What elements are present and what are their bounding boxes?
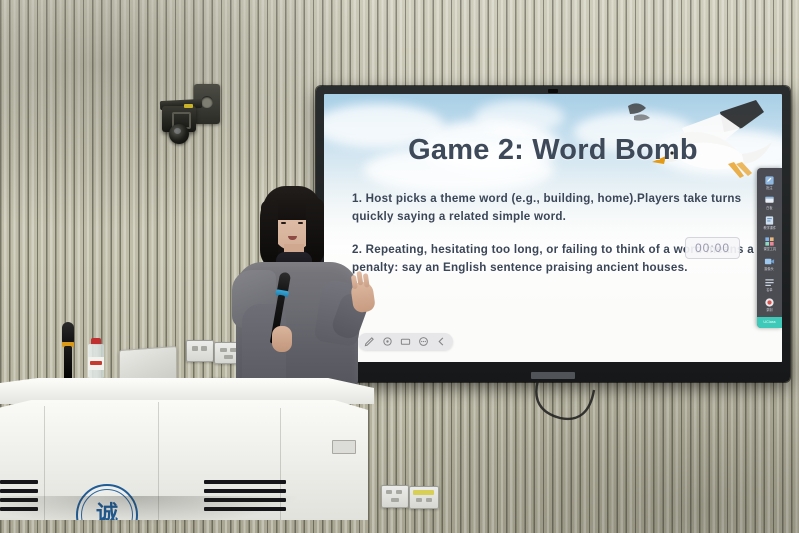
whiteboard-icon[interactable]: [764, 195, 775, 206]
podium-asset-tag: [332, 440, 356, 454]
courseware-icon[interactable]: [764, 215, 775, 226]
annotate-icon[interactable]: [764, 175, 775, 186]
dock-item-camera[interactable]: 摄像头: [757, 254, 782, 274]
slide-timer[interactable]: 00:00: [685, 237, 740, 259]
wall-outlet-plate-lower-right[interactable]: [409, 486, 439, 509]
presenter-hand-left: [272, 326, 292, 352]
camera-label: [184, 104, 193, 108]
dock-item-tools[interactable]: 课堂工具: [757, 233, 782, 253]
presenter-hair-left: [261, 200, 278, 262]
wall-outlet-plate-lower-left[interactable]: [381, 485, 409, 508]
dock-label: 摄像头: [765, 268, 774, 271]
target-icon[interactable]: [382, 336, 393, 347]
podium-microphone-head: [62, 322, 74, 344]
cloud: [474, 100, 564, 134]
slide-paragraph-1: 1. Host picks a theme word (e.g., buildi…: [352, 190, 766, 225]
presenter-hair-right: [306, 198, 324, 262]
right-side-dock[interactable]: 批注 白板 教学课件: [757, 168, 782, 328]
dock-item-annotate[interactable]: 批注: [757, 172, 782, 192]
podium-shadow: [0, 496, 330, 533]
security-camera: [158, 84, 220, 146]
panel-screen[interactable]: Game 2: Word Bomb 1. Host picks a theme …: [324, 94, 782, 362]
dock-footer-label[interactable]: UClass: [757, 317, 782, 328]
list-icon[interactable]: [764, 277, 775, 288]
dock-label: 批注: [766, 187, 772, 190]
water-bottle: [88, 338, 104, 378]
bottle-label: [88, 357, 104, 370]
classroom-scene: Game 2: Word Bomb 1. Host picks a theme …: [0, 0, 799, 533]
panel-camera-icon: [548, 89, 558, 93]
camera-icon[interactable]: [400, 336, 411, 347]
display-cable: [520, 380, 600, 428]
podium-microphone: [62, 322, 74, 384]
dock-label: 白板: [766, 207, 772, 210]
panel-brand-logo: [531, 372, 575, 379]
dock-label: 录制: [766, 309, 772, 312]
presenter: [232, 186, 380, 388]
collapse-left-icon[interactable]: [436, 336, 447, 347]
dock-label: 教学课件: [763, 227, 775, 230]
slide-title: Game 2: Word Bomb: [324, 134, 782, 167]
presenter-hand-right: [350, 281, 376, 314]
dock-item-record[interactable]: 录制: [757, 294, 782, 314]
dock-item-list[interactable]: 名单: [757, 274, 782, 294]
record-icon[interactable]: [764, 297, 775, 308]
camera-lens-icon: [169, 124, 189, 144]
wall-outlet-plate-upper-left[interactable]: [186, 340, 214, 362]
dock-label: 课堂工具: [763, 248, 775, 251]
dock-item-whiteboard[interactable]: 白板: [757, 192, 782, 212]
camera-dock-icon[interactable]: [764, 256, 775, 267]
interactive-flat-panel[interactable]: Game 2: Word Bomb 1. Host picks a theme …: [316, 86, 790, 382]
dock-label: 名单: [766, 289, 772, 292]
dock-item-courseware[interactable]: 教学课件: [757, 213, 782, 233]
more-icon[interactable]: [418, 336, 429, 347]
tools-icon[interactable]: [764, 236, 775, 247]
